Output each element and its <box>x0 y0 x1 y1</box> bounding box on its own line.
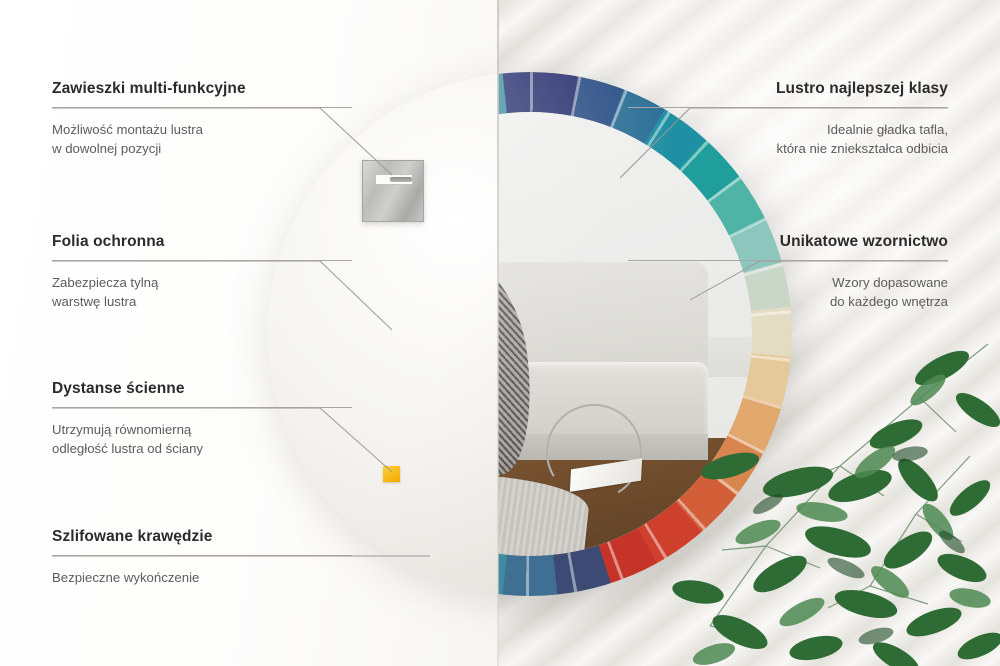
hanger-keyhole-slot <box>375 174 413 185</box>
callout-folia-line1: Zabezpiecza tylną <box>52 273 352 292</box>
callout-lustro-klasy: Lustro najlepszej klasy Idealnie gładka … <box>628 80 948 158</box>
callout-krawedzie-line1: Bezpieczne wykończenie <box>52 568 352 587</box>
callout-wzornictwo-title: Unikatowe wzornictwo <box>628 233 948 251</box>
callout-wzornictwo-line1: Wzory dopasowane <box>628 273 948 292</box>
callout-folia-line2: warstwę lustra <box>52 292 352 311</box>
callout-wzornictwo-rule <box>628 260 948 261</box>
callout-lustro-klasy-rule <box>628 107 948 108</box>
hanger-bracket <box>362 160 424 222</box>
callout-dystanse-line2: odległość lustra od ściany <box>52 439 352 458</box>
callout-folia: Folia ochronna Zabezpiecza tylną warstwę… <box>52 233 352 311</box>
callout-folia-rule <box>52 260 352 261</box>
callout-wzornictwo: Unikatowe wzornictwo Wzory dopasowane do… <box>628 233 948 311</box>
callout-zawieszki-title: Zawieszki multi-funkcyjne <box>52 80 352 98</box>
callout-lustro-klasy-title: Lustro najlepszej klasy <box>628 80 948 98</box>
wall-spacer <box>383 466 400 482</box>
callout-krawedzie-title: Szlifowane krawędzie <box>52 528 352 546</box>
callout-dystanse-rule <box>52 407 352 408</box>
feature-diagram-canvas: Zawieszki multi-funkcyjne Możliwość mont… <box>0 0 1000 666</box>
callout-folia-title: Folia ochronna <box>52 233 352 251</box>
callout-zawieszki-rule <box>52 107 352 108</box>
split-divider <box>497 0 499 666</box>
callout-krawedzie: Szlifowane krawędzie Bezpieczne wykończe… <box>52 528 352 587</box>
callout-lustro-klasy-line2: która nie zniekształca odbicia <box>628 139 948 158</box>
callout-zawieszki: Zawieszki multi-funkcyjne Możliwość mont… <box>52 80 352 158</box>
callout-krawedzie-rule <box>52 555 352 556</box>
callout-wzornictwo-line2: do każdego wnętrza <box>628 292 948 311</box>
callout-dystanse: Dystanse ścienne Utrzymują równomierną o… <box>52 380 352 458</box>
callout-zawieszki-line1: Możliwość montażu lustra <box>52 120 352 139</box>
callout-zawieszki-line2: w dowolnej pozycji <box>52 139 352 158</box>
callout-dystanse-line1: Utrzymują równomierną <box>52 420 352 439</box>
callout-dystanse-title: Dystanse ścienne <box>52 380 352 398</box>
callout-lustro-klasy-line1: Idealnie gładka tafla, <box>628 120 948 139</box>
plant-foliage-icon <box>670 336 1000 666</box>
